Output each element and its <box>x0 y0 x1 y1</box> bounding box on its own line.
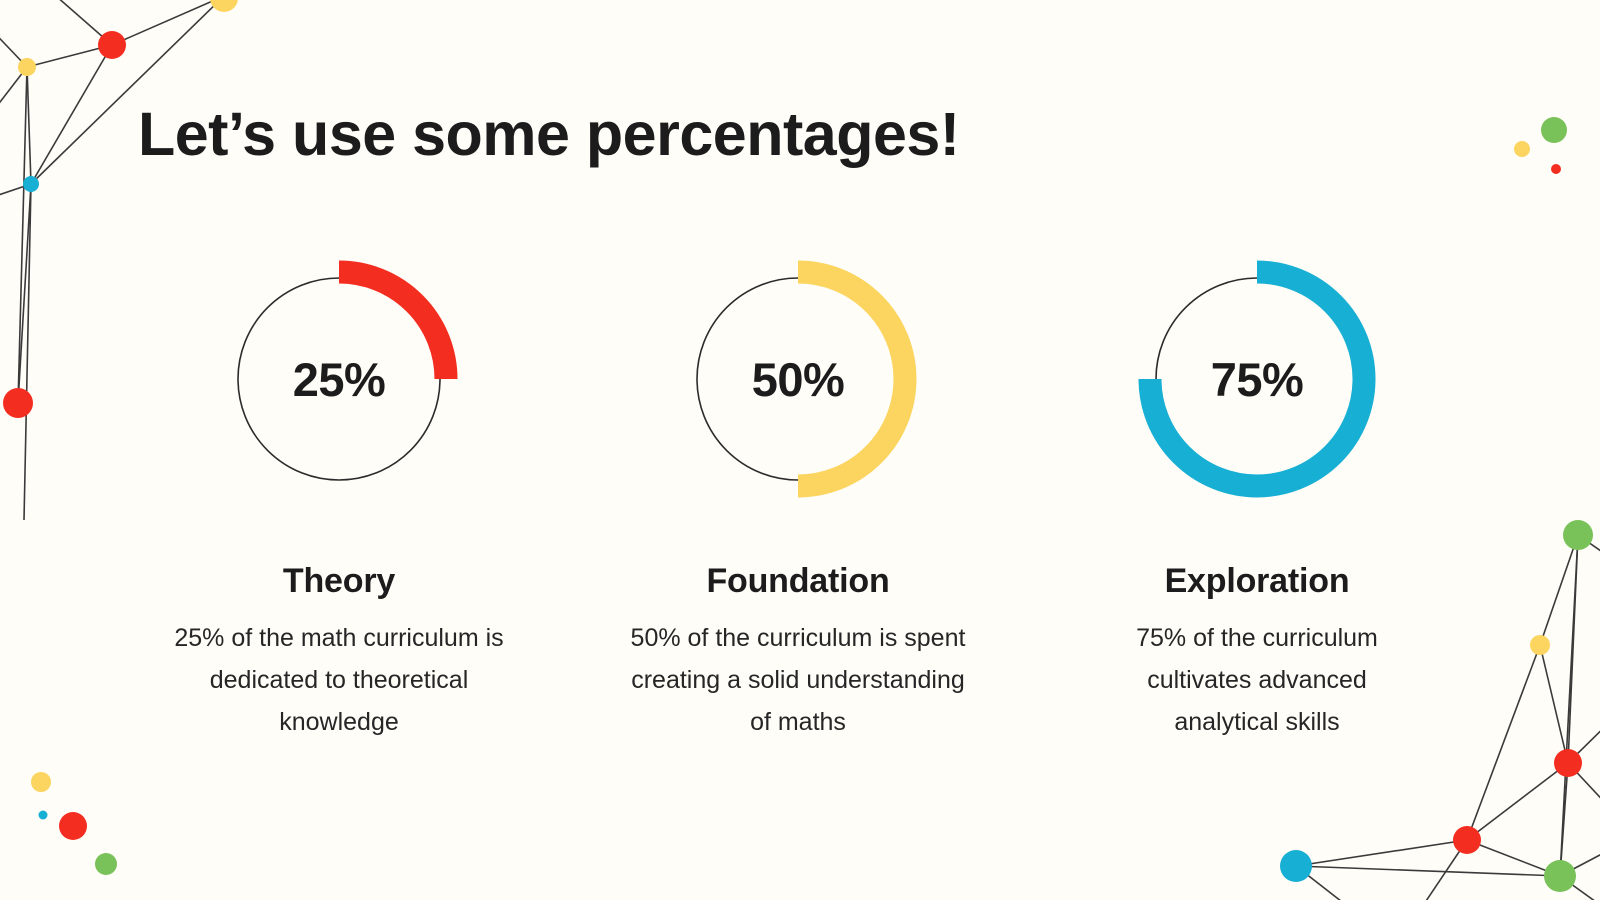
donut-chart-theory: 25% <box>209 248 469 510</box>
donut-chart-foundation: 50% <box>668 248 928 510</box>
page-title: Let’s use some percentages! <box>138 99 960 169</box>
dot-cluster-top-right <box>1514 117 1567 174</box>
percentage-column-foundation: 50% Foundation 50% of the curriculum is … <box>597 248 999 743</box>
column-description-exploration: 75% of the curriculum cultivates advance… <box>1092 617 1422 743</box>
column-heading-foundation: Foundation <box>706 562 889 601</box>
donut-value-foundation: 50% <box>752 352 845 407</box>
donut-value-exploration: 75% <box>1211 352 1304 407</box>
slide-canvas: Let’s use some percentages! 25% Theory 2… <box>0 0 1600 900</box>
donut-chart-exploration: 75% <box>1127 248 1387 510</box>
column-description-theory: 25% of the math curriculum is dedicated … <box>153 617 525 743</box>
column-heading-exploration: Exploration <box>1165 562 1350 601</box>
percentage-column-theory: 25% Theory 25% of the math curriculum is… <box>138 248 540 743</box>
column-description-foundation: 50% of the curriculum is spent creating … <box>623 617 973 743</box>
donut-value-theory: 25% <box>293 352 386 407</box>
percentage-column-exploration: 75% Exploration 75% of the curriculum cu… <box>1056 248 1458 743</box>
column-heading-theory: Theory <box>283 562 395 601</box>
dot-cluster-bottom-left <box>31 772 117 875</box>
percentage-columns: 25% Theory 25% of the math curriculum is… <box>138 248 1458 743</box>
